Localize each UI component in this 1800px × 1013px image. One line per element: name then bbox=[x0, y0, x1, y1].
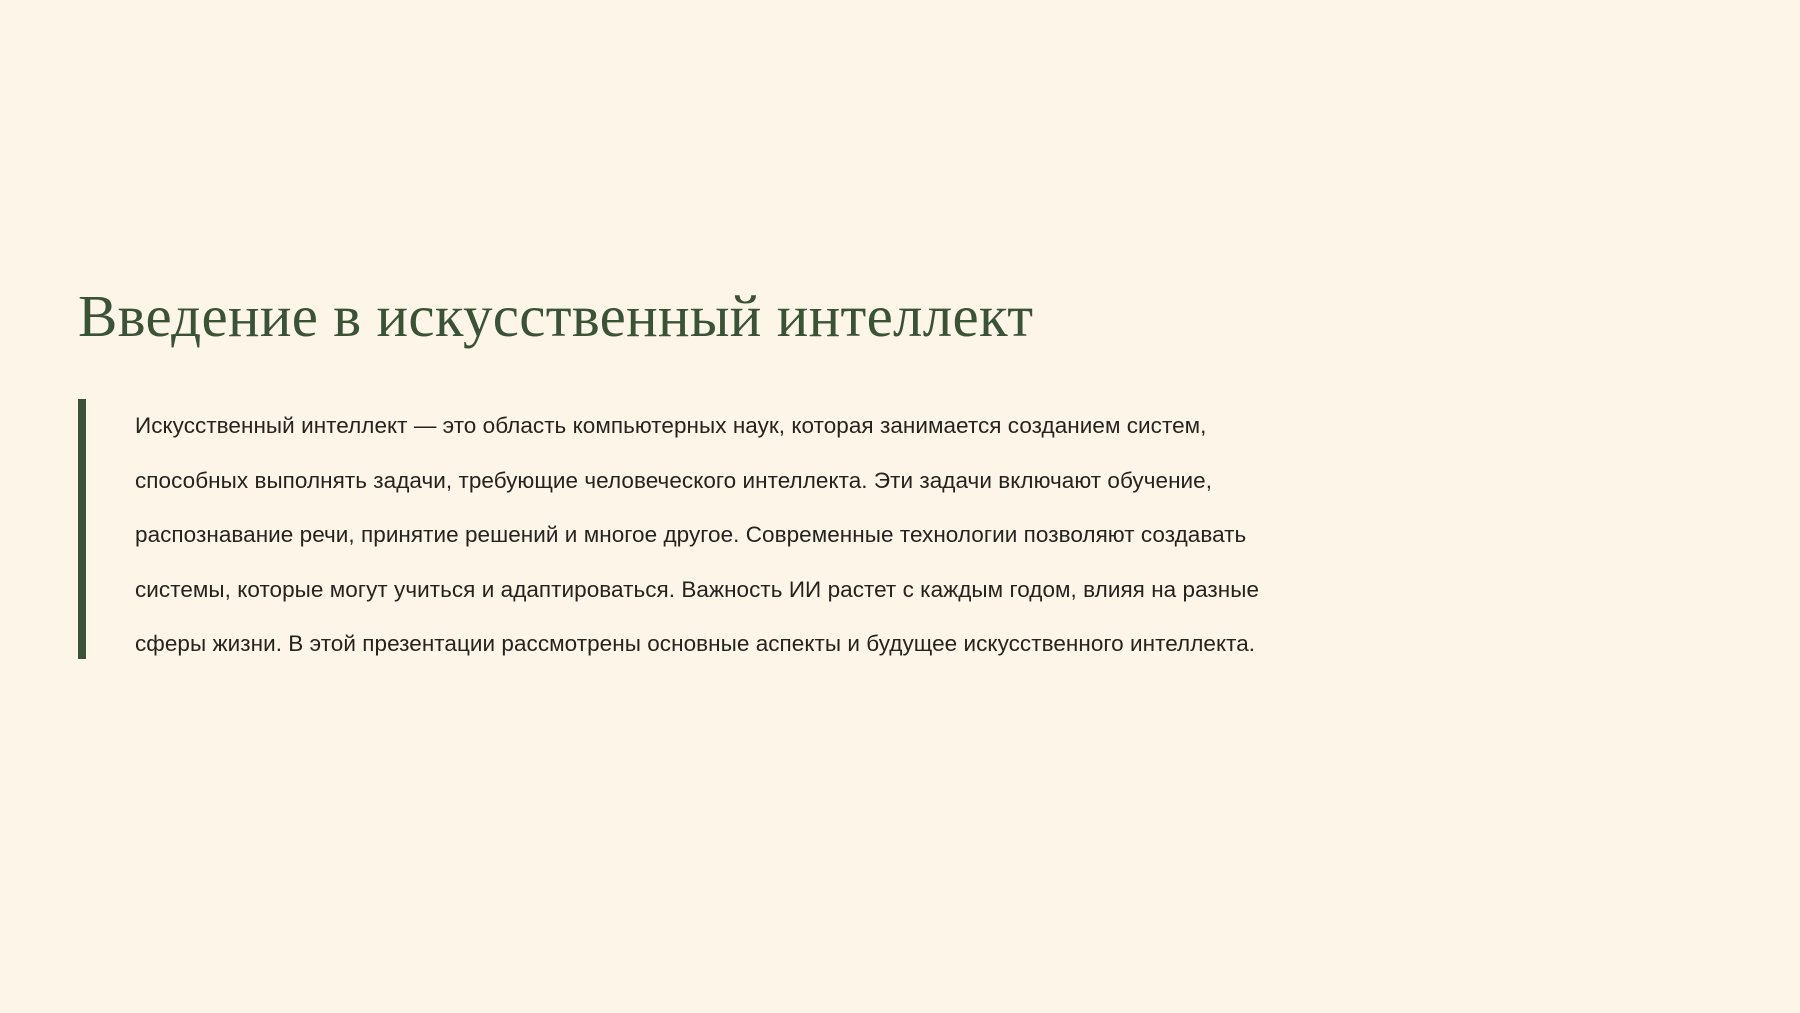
body-line: способных выполнять задачи, требующие че… bbox=[135, 454, 1675, 509]
accent-bar bbox=[78, 399, 86, 659]
body-line: распознавание речи, принятие решений и м… bbox=[135, 508, 1675, 563]
body-block: Искусственный интеллект — это область ко… bbox=[78, 399, 1728, 672]
slide-title: Введение в искусственный интеллект bbox=[78, 282, 1728, 350]
presentation-slide: Введение в искусственный интеллект Искус… bbox=[0, 0, 1800, 1013]
body-line: системы, которые могут учиться и адаптир… bbox=[135, 563, 1675, 618]
body-paragraph: Искусственный интеллект — это область ко… bbox=[135, 399, 1675, 672]
body-line: Искусственный интеллект — это область ко… bbox=[135, 399, 1675, 454]
slide-content: Введение в искусственный интеллект Искус… bbox=[78, 282, 1728, 672]
body-line: сферы жизни. В этой презентации рассмотр… bbox=[135, 617, 1675, 672]
